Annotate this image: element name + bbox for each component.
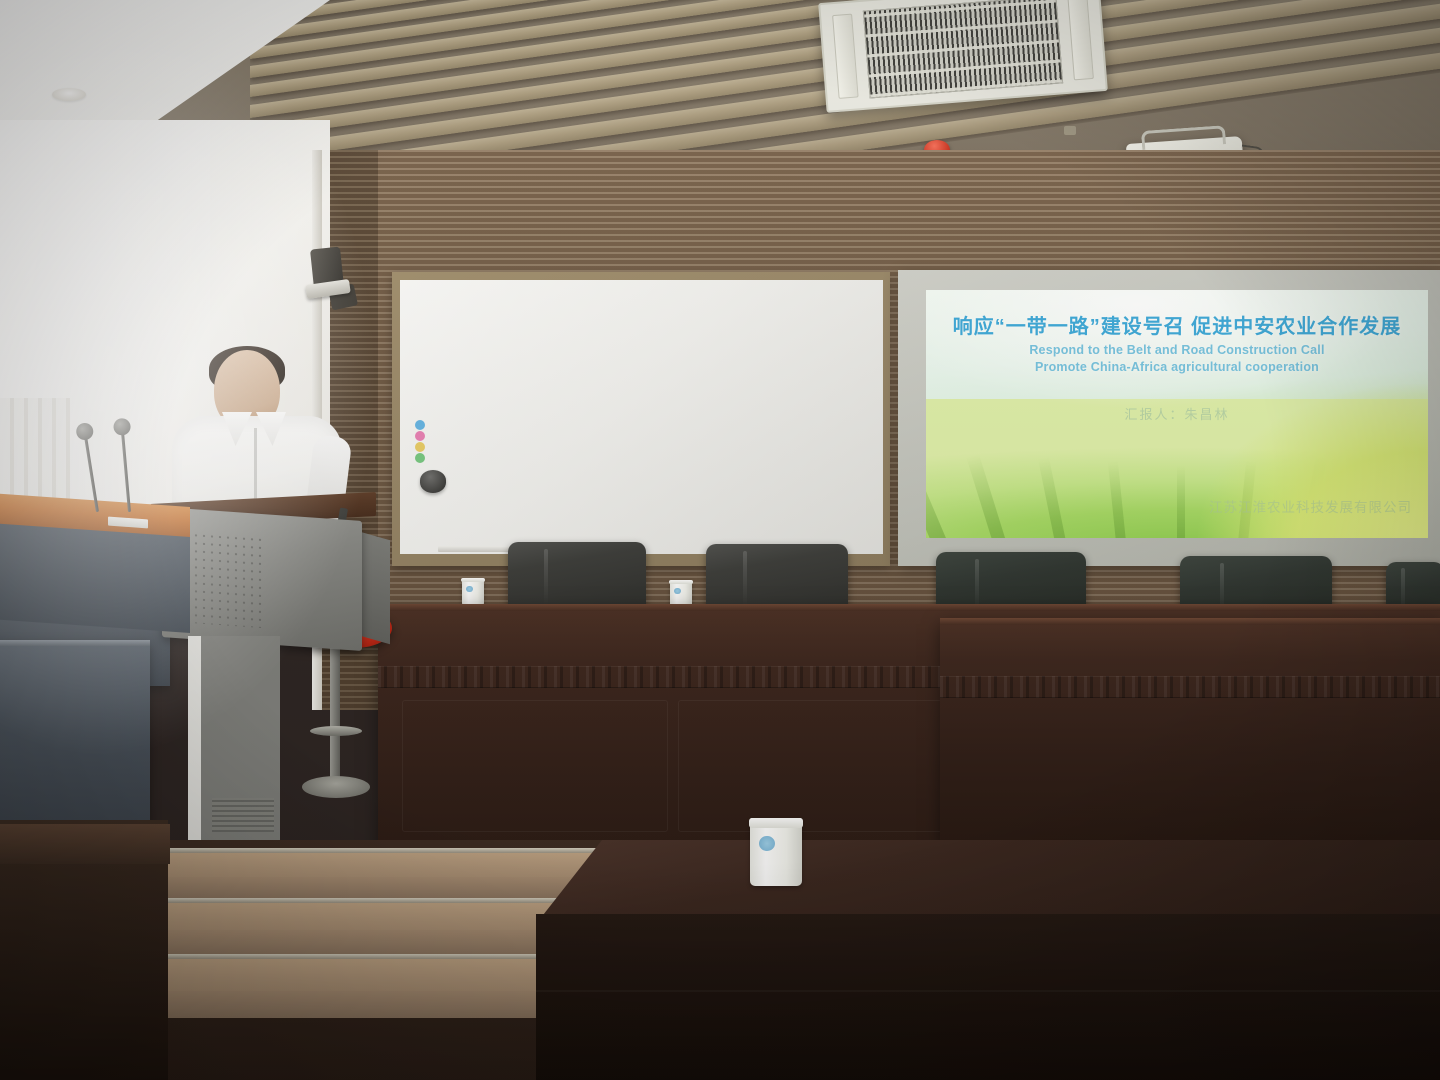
ac-vane-left (832, 14, 859, 99)
foreground-desk-top (536, 840, 1440, 924)
cup-rim (461, 578, 485, 582)
front-table (0, 500, 190, 620)
cup-rim (669, 580, 693, 584)
step-nosing (158, 954, 578, 959)
projection-screen: 响应“一带一路”建设号召 促进中安农业合作发展 Respond to the B… (926, 290, 1428, 538)
lectern-front-face (162, 507, 362, 651)
foreground-desk-front (536, 914, 1440, 1080)
desk-top-edge (940, 618, 1440, 625)
desk-panel (678, 700, 942, 832)
conference-desk-second-row (940, 618, 1440, 848)
whiteboard-marker-tray (438, 546, 518, 552)
ceiling-sensor-icon (1064, 126, 1076, 135)
step-riser (158, 991, 578, 1018)
wall-speaker (306, 248, 348, 306)
lectern-speaker-grille (184, 531, 266, 629)
slide-subtitle-en: Respond to the Belt and Road Constructio… (926, 342, 1428, 376)
foreground-desk-seam (536, 990, 1440, 992)
front-table-body (0, 519, 190, 633)
projection-screen-frame: 响应“一带一路”建设号召 促进中安农业合作发展 Respond to the B… (898, 270, 1440, 566)
desk-top-edge (378, 604, 1440, 611)
paper-cup (750, 818, 802, 886)
ac-vane-right (1067, 0, 1094, 80)
cup-rim (749, 818, 803, 828)
recessed-light-icon (52, 88, 86, 101)
foreground-desk (536, 840, 1440, 1080)
lectern-vent (212, 798, 274, 832)
whiteboard (392, 272, 890, 566)
ac-grille (863, 0, 1063, 98)
cup-logo-icon (466, 586, 473, 593)
cup-logo-icon (674, 588, 681, 595)
slide-furrow (926, 452, 950, 538)
slide-title-cn: 响应“一带一路”建设号召 促进中安农业合作发展 (926, 310, 1428, 339)
whiteboard-magnets (415, 420, 426, 466)
whiteboard-eraser-icon (420, 470, 446, 493)
slide-subtitle-line-1: Respond to the Belt and Road Constructio… (926, 342, 1428, 359)
desk-panel (402, 700, 668, 832)
slide-company-line: 江苏江淮农业科技发展有限公司 (926, 496, 1412, 516)
side-desk-lower (0, 640, 150, 840)
slide-subtitle-line-2: Promote China-Africa agricultural cooper… (926, 359, 1428, 376)
whiteboard-surface (400, 280, 883, 554)
conference-room-photo: EPSON 响应“一带一路”建设号召 (0, 0, 1440, 1080)
cup-logo-icon (759, 836, 775, 851)
slide-presenter-line: 汇报人：朱昌林 (926, 404, 1428, 423)
step (158, 954, 578, 1018)
foreground-dark-block-left-top (0, 824, 170, 864)
desk-meander-carving (940, 676, 1440, 698)
side-desk-edge (0, 640, 150, 646)
